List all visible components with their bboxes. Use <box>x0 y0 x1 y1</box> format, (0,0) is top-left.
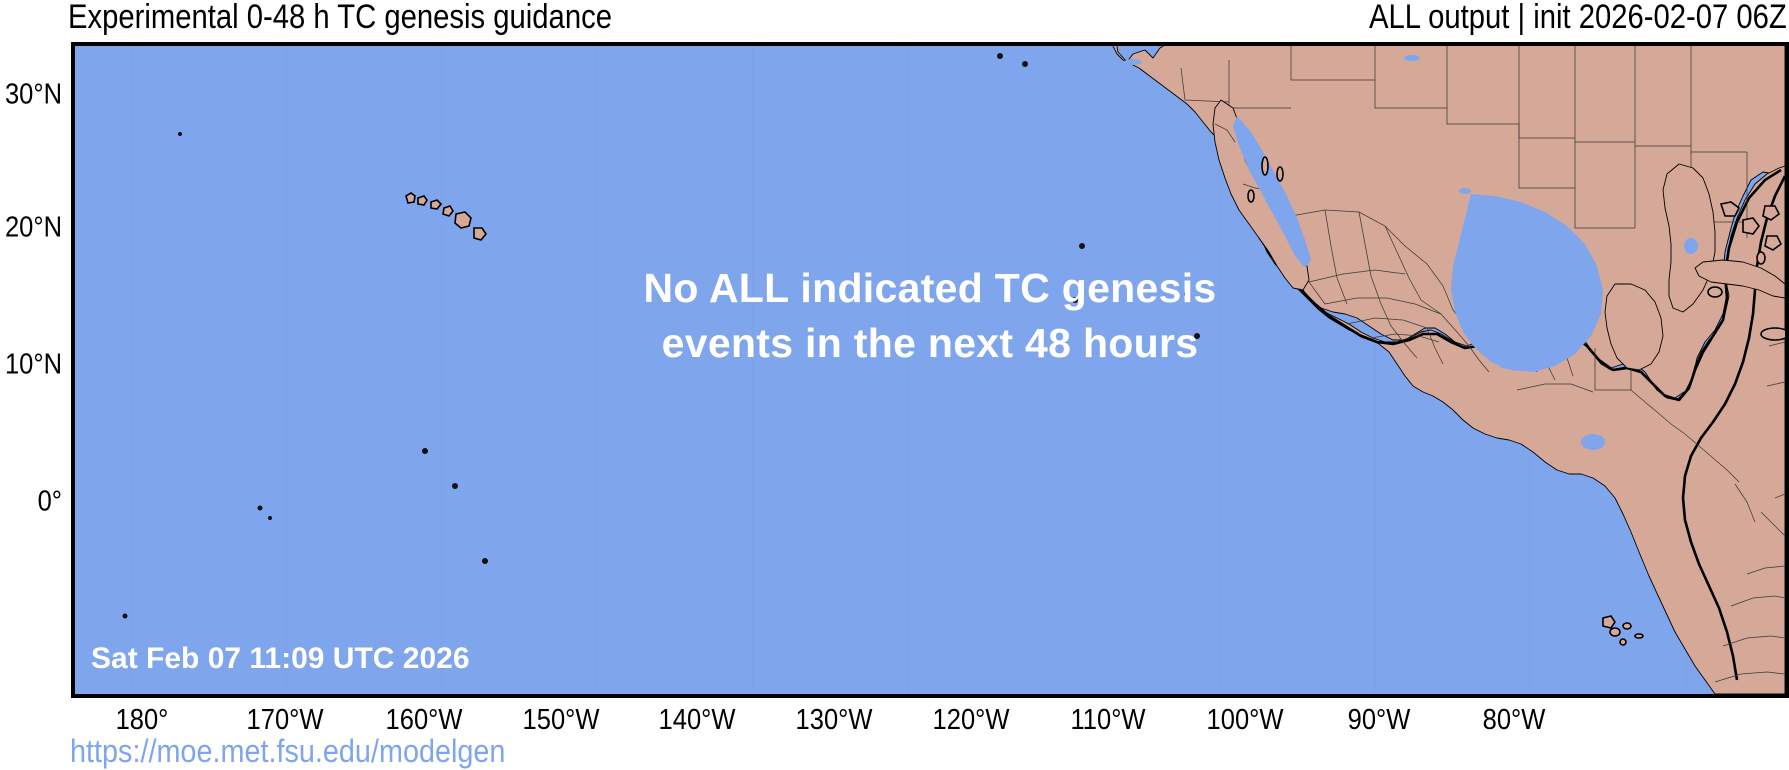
title-row: Experimental 0-48 h TC genesis guidance … <box>0 0 1789 40</box>
y-tick-30n: 30°N <box>5 79 62 112</box>
page-title: Experimental 0-48 h TC genesis guidance <box>68 0 612 37</box>
y-tick-0: 0° <box>38 486 62 519</box>
y-tick-10n: 10°N <box>5 349 62 382</box>
x-tick-150w: 150°W <box>523 704 600 737</box>
y-tick-20n: 20°N <box>5 212 62 245</box>
x-tick-140w: 140°W <box>659 704 736 737</box>
timestamp-label: Sat Feb 07 11:09 UTC 2026 <box>91 642 470 676</box>
x-tick-110w: 110°W <box>1071 704 1146 737</box>
x-tick-80w: 80°W <box>1483 704 1546 737</box>
source-url-link[interactable]: https://moe.met.fsu.edu/modelgen <box>70 733 505 770</box>
basemap-svg: .land{fill:#D5A898;stroke:#000;stroke-wi… <box>75 46 1785 694</box>
x-tick-120w: 120°W <box>933 704 1010 737</box>
x-tick-90w: 90°W <box>1348 704 1411 737</box>
map-panel[interactable]: .land{fill:#D5A898;stroke:#000;stroke-wi… <box>71 42 1789 698</box>
x-tick-130w: 130°W <box>796 704 873 737</box>
run-info-label: ALL output | init 2026-02-07 06Z <box>1369 0 1787 37</box>
x-tick-100w: 100°W <box>1207 704 1284 737</box>
tc-genesis-guidance-figure: Experimental 0-48 h TC genesis guidance … <box>0 0 1789 768</box>
